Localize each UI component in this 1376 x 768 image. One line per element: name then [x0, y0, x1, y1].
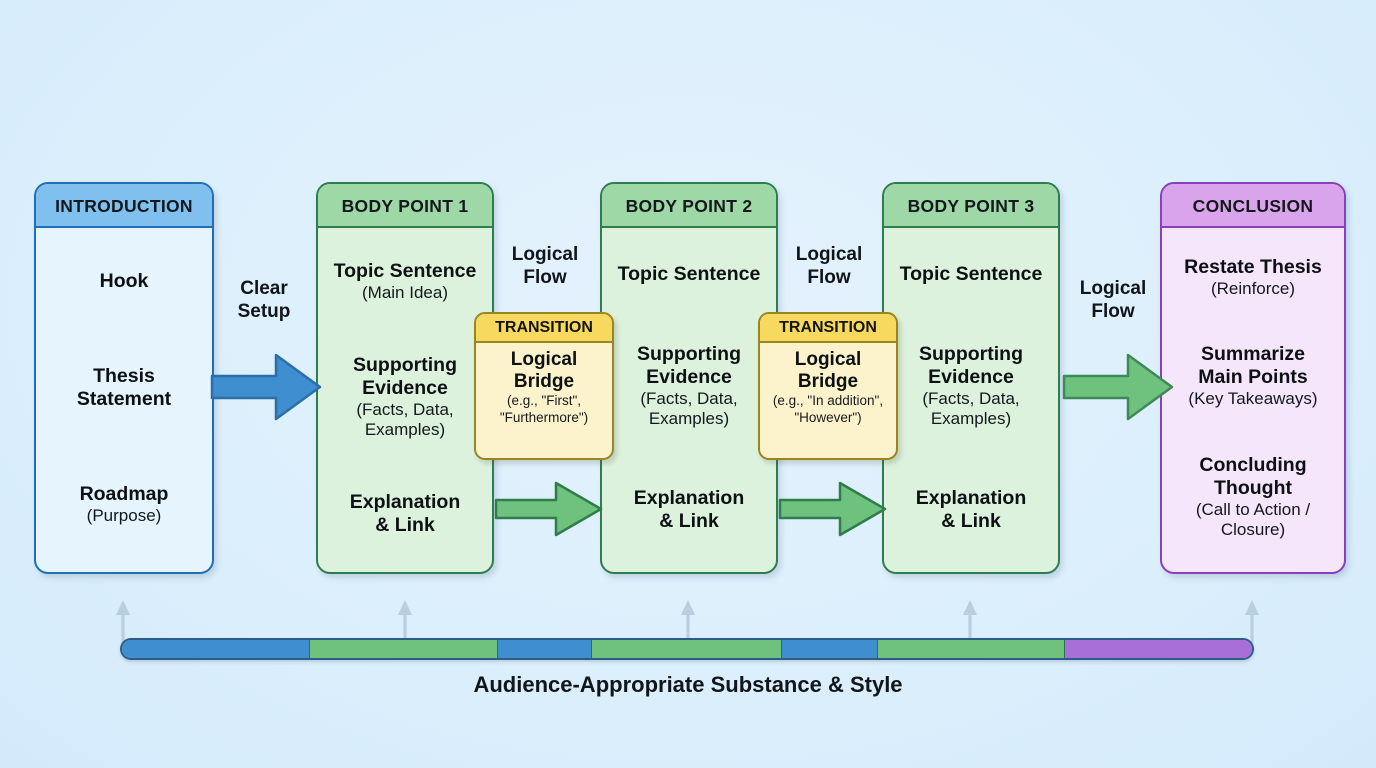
- bp1-evidence-title: SupportingEvidence: [326, 354, 484, 400]
- transition-2-header: TRANSITION: [760, 314, 896, 343]
- card-body-point-2-body: Topic Sentence SupportingEvidence (Facts…: [602, 228, 776, 572]
- transition-box-1[interactable]: TRANSITION LogicalBridge (e.g., "First",…: [474, 312, 614, 460]
- transition-1-title: LogicalBridge: [480, 349, 608, 393]
- card-body-point-1-body: Topic Sentence (Main Idea) SupportingEvi…: [318, 228, 492, 572]
- card-body-point-1[interactable]: BODY POINT 1 Topic Sentence (Main Idea) …: [316, 182, 494, 574]
- card-conclusion-body: Restate Thesis (Reinforce) SummarizeMain…: [1162, 228, 1344, 572]
- concl-restate-title: Restate Thesis: [1170, 256, 1336, 279]
- bp2-block-topic: Topic Sentence: [610, 263, 768, 286]
- concl-summarize-title: SummarizeMain Points: [1170, 343, 1336, 389]
- bp1-block-evidence: SupportingEvidence (Facts, Data,Examples…: [326, 354, 484, 440]
- card-body-point-2[interactable]: BODY POINT 2 Topic Sentence SupportingEv…: [600, 182, 778, 574]
- spectrum-segment: [782, 640, 878, 658]
- bp3-block-evidence: SupportingEvidence (Facts, Data,Examples…: [892, 343, 1050, 429]
- concl-block-restate: Restate Thesis (Reinforce): [1170, 256, 1336, 299]
- spectrum-segment: [122, 640, 310, 658]
- spectrum-segment: [310, 640, 498, 658]
- intro-thesis-title: ThesisStatement: [44, 365, 204, 411]
- intro-block-roadmap: Roadmap (Purpose): [44, 483, 204, 526]
- bp3-evidence-title: SupportingEvidence: [892, 343, 1050, 389]
- arrow-label-logical-flow-3: LogicalFlow: [1058, 277, 1168, 323]
- bp1-evidence-sub: (Facts, Data,Examples): [326, 400, 484, 440]
- concl-thought-title: ConcludingThought: [1170, 454, 1336, 500]
- arrow-label-clear-setup: ClearSetup: [216, 277, 312, 323]
- concl-thought-sub: (Call to Action /Closure): [1170, 500, 1336, 540]
- bp2-topic-title: Topic Sentence: [610, 263, 768, 286]
- card-body-point-3-body: Topic Sentence SupportingEvidence (Facts…: [884, 228, 1058, 572]
- bp2-block-evidence: SupportingEvidence (Facts, Data,Examples…: [610, 343, 768, 429]
- card-introduction-body: Hook ThesisStatement Roadmap (Purpose): [36, 228, 212, 572]
- spectrum-segment: [878, 640, 1065, 658]
- transition-2-title: LogicalBridge: [764, 349, 892, 393]
- card-conclusion[interactable]: CONCLUSION Restate Thesis (Reinforce) Su…: [1160, 182, 1346, 574]
- arrow-right-green-small-2-icon: [778, 480, 888, 538]
- card-body-point-3[interactable]: BODY POINT 3 Topic Sentence SupportingEv…: [882, 182, 1060, 574]
- bp1-topic-title: Topic Sentence: [326, 260, 484, 283]
- bp3-block-topic: Topic Sentence: [892, 263, 1050, 286]
- card-body-point-2-header: BODY POINT 2: [602, 184, 776, 228]
- transition-1-examples: (e.g., "First","Furthermore"): [480, 393, 608, 426]
- card-body-point-1-header: BODY POINT 1: [318, 184, 492, 228]
- transition-1-header: TRANSITION: [476, 314, 612, 343]
- bp2-block-explanation: Explanation& Link: [610, 487, 768, 533]
- spectrum-caption: Audience-Appropriate Substance & Style: [0, 672, 1376, 698]
- concl-block-summarize: SummarizeMain Points (Key Takeaways): [1170, 343, 1336, 409]
- diagram-canvas: INTRODUCTION Hook ThesisStatement Roadma…: [0, 0, 1376, 768]
- bp2-evidence-title: SupportingEvidence: [610, 343, 768, 389]
- intro-roadmap-sub: (Purpose): [44, 506, 204, 526]
- spectrum-segment: [498, 640, 592, 658]
- spectrum-segment: [592, 640, 782, 658]
- bp3-block-explanation: Explanation& Link: [892, 487, 1050, 533]
- card-body-point-3-header: BODY POINT 3: [884, 184, 1058, 228]
- bp1-topic-sub: (Main Idea): [326, 283, 484, 303]
- spectrum-bar-wrapper: [120, 638, 1254, 660]
- bp3-topic-title: Topic Sentence: [892, 263, 1050, 286]
- concl-restate-sub: (Reinforce): [1170, 279, 1336, 299]
- concl-block-thought: ConcludingThought (Call to Action /Closu…: [1170, 454, 1336, 540]
- bp1-block-explanation: Explanation& Link: [326, 491, 484, 537]
- transition-box-2[interactable]: TRANSITION LogicalBridge (e.g., "In addi…: [758, 312, 898, 460]
- transition-2-examples: (e.g., "In addition","However"): [764, 393, 892, 426]
- concl-summarize-sub: (Key Takeaways): [1170, 389, 1336, 409]
- intro-roadmap-title: Roadmap: [44, 483, 204, 506]
- transition-2-body: LogicalBridge (e.g., "In addition","Howe…: [760, 343, 896, 426]
- intro-hook-title: Hook: [44, 270, 204, 293]
- bp3-evidence-sub: (Facts, Data,Examples): [892, 389, 1050, 429]
- bp2-evidence-sub: (Facts, Data,Examples): [610, 389, 768, 429]
- intro-block-thesis: ThesisStatement: [44, 365, 204, 411]
- card-conclusion-header: CONCLUSION: [1162, 184, 1344, 228]
- arrow-right-green-small-1-icon: [494, 480, 604, 538]
- bp1-block-topic: Topic Sentence (Main Idea): [326, 260, 484, 303]
- card-introduction-header: INTRODUCTION: [36, 184, 212, 228]
- audience-spectrum-bar[interactable]: [120, 638, 1254, 660]
- bp1-explanation-title: Explanation& Link: [326, 491, 484, 537]
- arrow-label-logical-flow-1: LogicalFlow: [490, 243, 600, 289]
- arrow-right-blue-icon: [210, 352, 322, 422]
- spectrum-segment: [1065, 640, 1252, 658]
- intro-block-hook: Hook: [44, 270, 204, 293]
- transition-1-body: LogicalBridge (e.g., "First","Furthermor…: [476, 343, 612, 426]
- arrow-right-green-icon: [1062, 352, 1174, 422]
- bp3-explanation-title: Explanation& Link: [892, 487, 1050, 533]
- bp2-explanation-title: Explanation& Link: [610, 487, 768, 533]
- arrow-label-logical-flow-2: LogicalFlow: [774, 243, 884, 289]
- card-introduction[interactable]: INTRODUCTION Hook ThesisStatement Roadma…: [34, 182, 214, 574]
